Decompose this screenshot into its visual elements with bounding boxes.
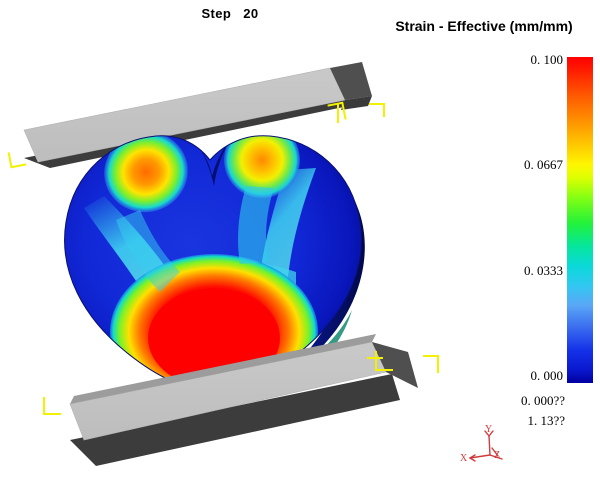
axis-z-label: Z <box>494 450 500 461</box>
axis-y-line <box>489 436 490 455</box>
colorbar-tick-lower-mid: 0. 0333 <box>473 263 563 279</box>
fea-postprocessor-window: Step 20 Strain - Effective (mm/mm) 0. 10… <box>0 0 600 478</box>
axis-y-label: Y <box>485 424 492 435</box>
colorbar-tick-upper-mid: 0. 0667 <box>473 157 563 173</box>
step-label: Step 20 <box>160 6 300 21</box>
legend-title: Strain - Effective (mm/mm) <box>370 18 598 34</box>
viewport-3d[interactable] <box>0 0 460 478</box>
constraint-marker-upper-left <box>9 151 25 167</box>
axis-triad: X Y Z <box>458 424 512 474</box>
constraint-marker-lower-left <box>44 398 60 414</box>
constraint-marker-upper-far-right <box>370 104 384 116</box>
colorbar-tick-max: 0. 100 <box>473 52 563 68</box>
status-min-value: 0. 000?? <box>435 393 565 409</box>
axis-x-label: X <box>460 453 467 464</box>
constraint-marker-lower-far-right <box>424 356 438 372</box>
colorbar[interactable] <box>567 57 593 383</box>
scene-canvas <box>0 0 460 478</box>
colorbar-tick-min: 0. 000 <box>473 368 563 384</box>
axis-x-arrow-bottom <box>470 458 475 461</box>
